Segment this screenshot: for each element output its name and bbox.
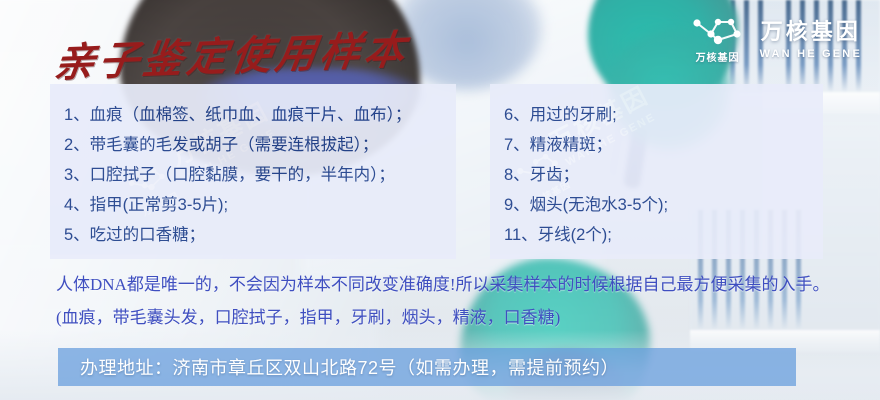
list-item: 8、牙齿； xyxy=(504,160,823,190)
list-item: 2、带毛囊的毛发或胡子（需要连根拔起）； xyxy=(64,130,456,160)
sample-list-panel-right: 万核基因 WAN HE GENE xyxy=(490,84,823,259)
list-item: 1、血痕（血棉签、纸巾血、血痕干片、血布）； xyxy=(64,100,456,130)
list-item: 7、精液精斑； xyxy=(504,130,823,160)
poster-root: 万核基因 万核基因 WAN HE GENE 亲子鉴定使用样本 万核基因 WAN … xyxy=(0,0,880,400)
note-paragraph: 人体DNA都是唯一的，不会因为样本不同改变准确度!所以采集样本的时候根据自己最方… xyxy=(56,268,846,334)
sample-list-right: 6、用过的牙刷; 7、精液精斑； 8、牙齿； 9、烟头(无泡水3-5个); 11… xyxy=(490,84,823,250)
molecule-icon xyxy=(690,16,746,46)
logo-mark-label: 万核基因 xyxy=(696,49,740,64)
logo-name-en: WAN HE GENE xyxy=(760,49,862,60)
sample-list-left: 1、血痕（血棉签、纸巾血、血痕干片、血布）； 2、带毛囊的毛发或胡子（需要连根拔… xyxy=(50,84,456,250)
logo-name-cn: 万核基因 xyxy=(761,21,861,43)
list-item: 5、吃过的口香糖； xyxy=(64,220,456,250)
logo-mark: 万核基因 xyxy=(690,16,746,64)
list-item: 11、牙线(2个); xyxy=(504,220,823,250)
list-item: 3、口腔拭子（口腔黏膜，要干的，半年内）； xyxy=(64,160,456,190)
brand-logo: 万核基因 万核基因 WAN HE GENE xyxy=(690,16,862,64)
list-item: 6、用过的牙刷; xyxy=(504,100,823,130)
list-item: 9、烟头(无泡水3-5个); xyxy=(504,190,823,220)
logo-wordmark: 万核基因 WAN HE GENE xyxy=(760,21,862,60)
sample-list-panel-left: 万核基因 WAN HE GENE xyxy=(50,84,456,259)
address-bar: 办理地址：济南市章丘区双山北路72号（如需办理，需提前预约） xyxy=(58,348,796,386)
address-text: 办理地址：济南市章丘区双山北路72号（如需办理，需提前预约） xyxy=(58,354,619,380)
list-item: 4、指甲(正常剪3-5片); xyxy=(64,190,456,220)
